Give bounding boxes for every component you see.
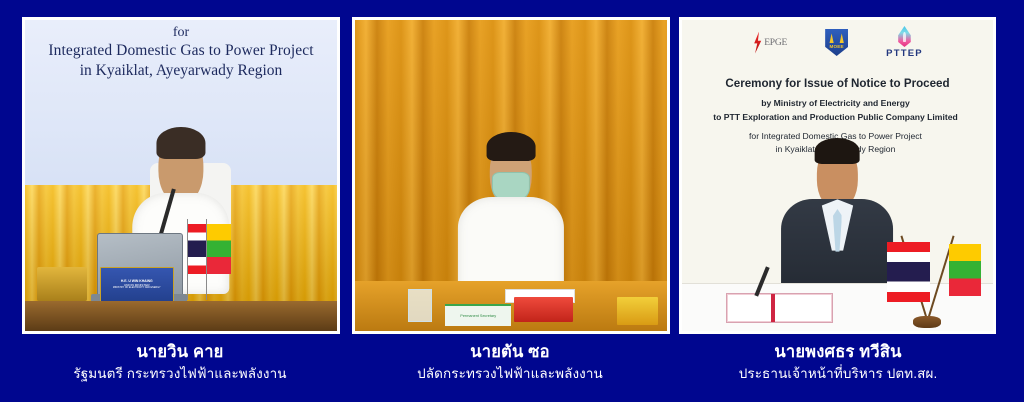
caption-role: ปลัดกระทรวงไฟฟ้าและพลังงาน: [350, 364, 670, 383]
pylon-icon: [829, 33, 835, 43]
caption-name: นายพงศธร ทวีสิน: [678, 342, 998, 364]
nameplate-union-minister: H.E. U WIN KHAING UNION MINISTER MINISTR…: [100, 267, 174, 303]
signing-document: [726, 293, 834, 323]
water-glass: [408, 289, 432, 322]
logo-row: EPGE MOEE PTTEP: [682, 26, 993, 59]
video-panel-union-minister: for Integrated Domestic Gas to Power Pro…: [22, 17, 340, 334]
video-panel-pttep-ceo: EPGE MOEE PTTEP Ceremony for Issue of No…: [679, 17, 996, 334]
backdrop-line-2: to PTT Exploration and Production Public…: [682, 111, 993, 125]
scene-union-minister: for Integrated Domestic Gas to Power Pro…: [25, 20, 337, 331]
person-pttep-ceo: [782, 144, 894, 306]
epge-label: EPGE: [764, 38, 787, 48]
flame-droplet-icon: [897, 26, 912, 47]
thailand-flag-icon: [183, 219, 199, 300]
desk: [25, 301, 337, 331]
scene-permanent-secretary: Permanent Secretary: [355, 20, 667, 331]
hair: [815, 138, 860, 164]
myanmar-flag-icon: [949, 244, 981, 296]
pttep-logo: PTTEP: [886, 26, 923, 59]
desk-flags: [183, 219, 224, 300]
backdrop-title: Ceremony for Issue of Notice to Proceed: [682, 77, 993, 90]
tower-icon: [839, 33, 845, 43]
myanmar-flag-icon: [202, 219, 218, 300]
table-flag-stand: [887, 228, 980, 328]
yellow-box: [617, 297, 658, 325]
slide-line-2: Integrated Domestic Gas to Power Project: [25, 41, 337, 60]
hair: [157, 127, 205, 159]
slide-line-1: for: [25, 24, 337, 41]
person-permanent-secretary: [458, 138, 564, 294]
hair: [487, 132, 536, 162]
nameplate-permanent-secretary: Permanent Secretary: [445, 304, 511, 326]
flag-cloth: [207, 224, 231, 274]
white-traditional-shirt: [458, 197, 564, 293]
nameplate-line-3: MINISTRY OF ELECTRICITY AND ENERGY: [113, 287, 161, 290]
epge-logo: EPGE: [752, 32, 787, 54]
flag-stand-base: [913, 316, 941, 328]
caption-name: นายวิน คาย: [20, 342, 340, 364]
moee-logo: MOEE: [825, 29, 848, 56]
caption-name: นายตัน ซอ: [350, 342, 670, 364]
slide-line-3: in Kyaiklat, Ayeyarwady Region: [25, 61, 337, 80]
backdrop-line-1: by Ministry of Electricity and Energy: [682, 97, 993, 111]
nameplate-line-1: Permanent Secretary: [460, 314, 496, 318]
caption-union-minister: นายวิน คาย รัฐมนตรี กระทรวงไฟฟ้าและพลังง…: [20, 342, 340, 383]
video-conference-collage: for Integrated Domestic Gas to Power Pro…: [0, 0, 1024, 402]
video-panel-permanent-secretary: Permanent Secretary: [352, 17, 670, 334]
caption-role: รัฐมนตรี กระทรวงไฟฟ้าและพลังงาน: [20, 364, 340, 383]
red-folder: [514, 297, 573, 322]
moee-label: MOEE: [825, 44, 848, 49]
lightning-bolt-icon: [752, 32, 763, 54]
thailand-flag-icon: [887, 242, 930, 302]
caption-pttep-ceo: นายพงศธร ทวีสิน ประธานเจ้าหน้าที่บริหาร …: [678, 342, 998, 383]
caption-role: ประธานเจ้าหน้าที่บริหาร ปตท.สผ.: [678, 364, 998, 383]
pttep-label: PTTEP: [886, 48, 923, 59]
projected-slide-text: for Integrated Domestic Gas to Power Pro…: [25, 24, 337, 80]
caption-permanent-secretary: นายตัน ซอ ปลัดกระทรวงไฟฟ้าและพลังงาน: [350, 342, 670, 383]
gold-tray: [37, 267, 87, 301]
scene-pttep-ceo: EPGE MOEE PTTEP Ceremony for Issue of No…: [682, 20, 993, 331]
